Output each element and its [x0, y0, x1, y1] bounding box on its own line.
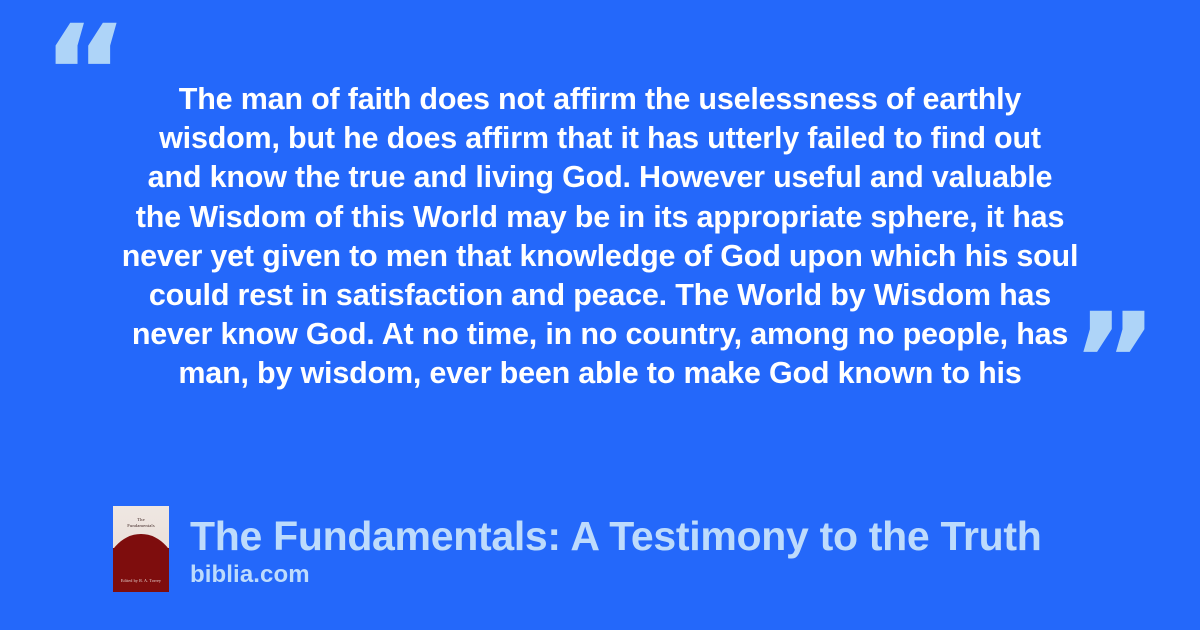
quote-line: never yet given to men that knowledge of…	[100, 237, 1100, 276]
quote-line: and know the true and living God. Howeve…	[100, 158, 1100, 197]
quote-line: never know God. At no time, in no countr…	[100, 315, 1100, 354]
book-cover-thumbnail: The Fundamentals Edited by R. A. Torrey	[113, 506, 169, 592]
quote-card: “ ” The man of faith does not affirm the…	[0, 0, 1200, 630]
book-title: The Fundamentals: A Testimony to the Tru…	[190, 513, 1041, 559]
book-cover-title-line: Fundamentals	[113, 523, 169, 529]
book-cover-arc	[113, 534, 169, 576]
quote-text-block: The man of faith does not affirm the use…	[100, 80, 1100, 394]
quote-line: wisdom, but he does affirm that it has u…	[100, 119, 1100, 158]
quote-line: the Wisdom of this World may be in its a…	[100, 198, 1100, 237]
quote-line: The man of faith does not affirm the use…	[100, 80, 1100, 119]
quote-line: could rest in satisfaction and peace. Th…	[100, 276, 1100, 315]
book-cover-editor: Edited by R. A. Torrey	[113, 578, 169, 583]
source-attribution: The Fundamentals Edited by R. A. Torrey …	[113, 506, 1041, 592]
source-text-block: The Fundamentals: A Testimony to the Tru…	[190, 513, 1041, 592]
quote-line: man, by wisdom, ever been able to make G…	[100, 354, 1100, 393]
book-cover-title: The Fundamentals	[113, 517, 169, 529]
site-name[interactable]: biblia.com	[190, 560, 1041, 590]
